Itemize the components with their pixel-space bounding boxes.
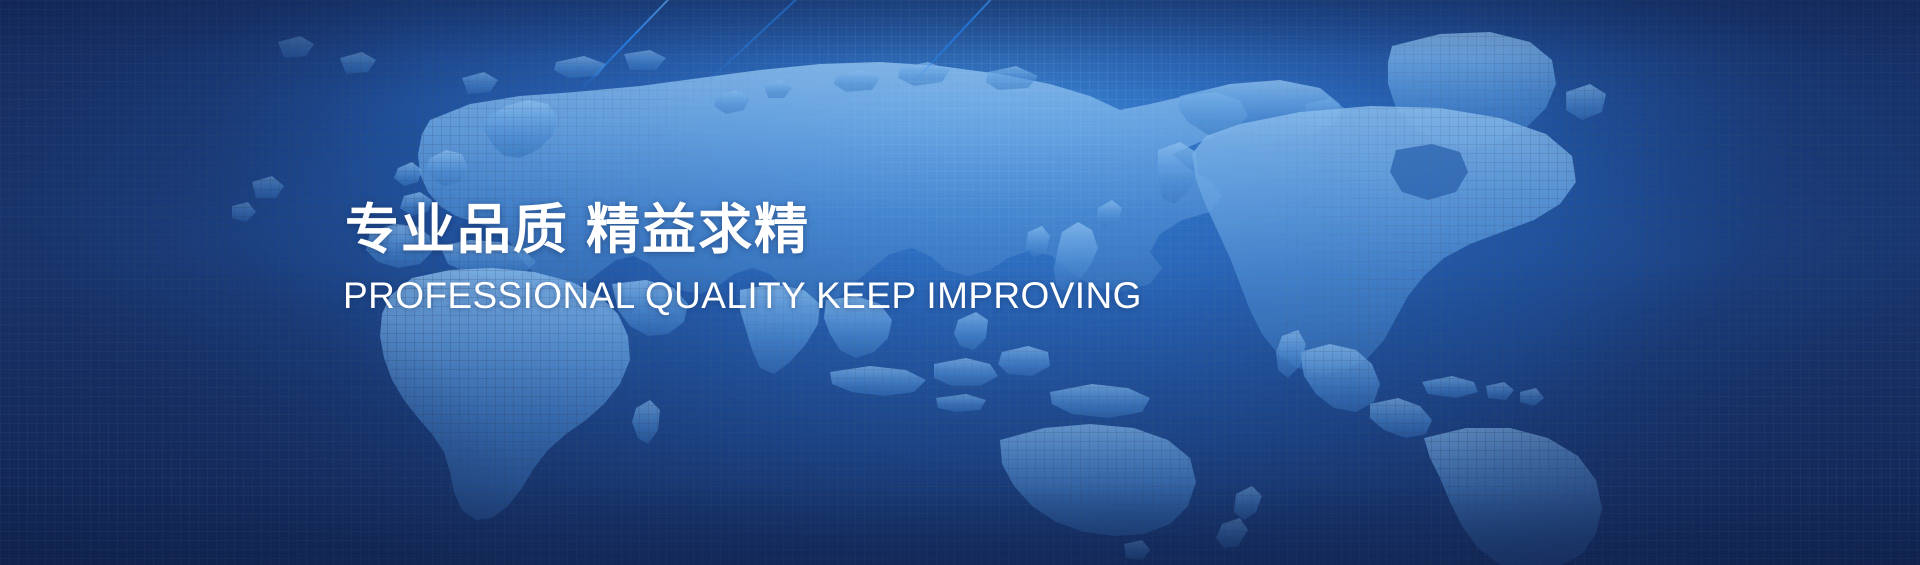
light-streak-icon (699, 0, 898, 89)
hero-banner: 专业品质 精益求精 PROFESSIONAL QUALITY KEEP IMPR… (0, 0, 1920, 565)
light-streak-icon (577, 0, 683, 94)
banner-headline-chinese: 专业品质 精益求精 (345, 203, 1142, 257)
banner-text-block: 专业品质 精益求精 PROFESSIONAL QUALITY KEEP IMPR… (345, 203, 1142, 314)
light-streak-icon (911, 0, 1032, 85)
banner-subtitle-english: PROFESSIONAL QUALITY KEEP IMPROVING (343, 277, 1142, 314)
